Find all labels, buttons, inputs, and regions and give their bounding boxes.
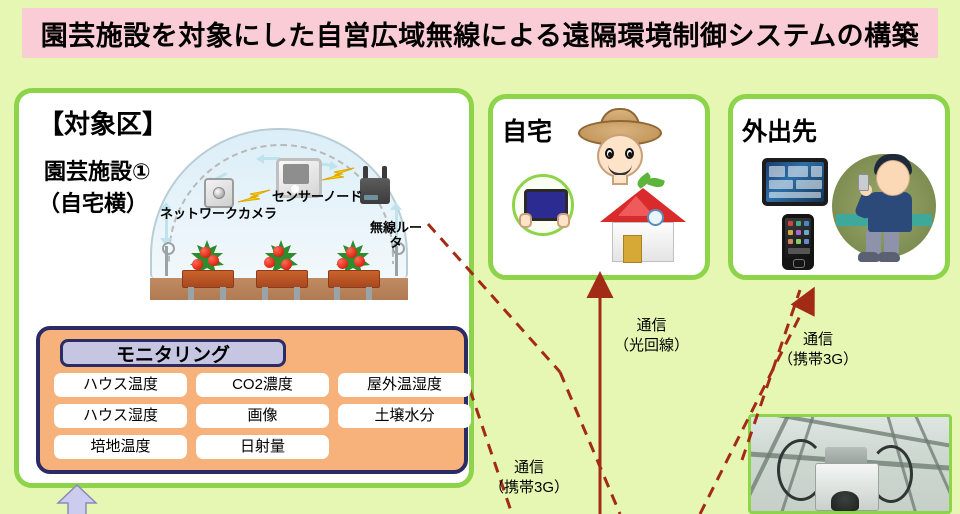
comm-label-line2: （光回線） — [614, 336, 689, 356]
outside-tablet-icon — [762, 158, 828, 206]
wireless-signal-bolt-icon — [320, 166, 356, 182]
label-wireless-router: 無線ルータ — [370, 221, 422, 251]
page-title: 園芸施設を対象にした自営広域無線による遠隔環境制御システムの構築 — [41, 14, 919, 53]
wireless-router-icon — [360, 168, 390, 204]
monitoring-row: ハウス湿度 画像 土壌水分 — [50, 404, 454, 428]
monitoring-item: ハウス湿度 — [54, 404, 187, 428]
label-target-area: 【対象区】 — [38, 104, 168, 141]
monitoring-item: ハウス温度 — [54, 373, 187, 397]
monitoring-panel: モニタリング ハウス温度 CO2濃度 屋外温湿度 ハウス湿度 画像 土壌水分 培… — [36, 326, 468, 474]
vent-post — [165, 246, 168, 276]
monitoring-title: モニタリング — [60, 339, 286, 367]
wireless-signal-bolt-icon — [236, 188, 272, 204]
tomato-planter — [322, 244, 384, 300]
comm-label-line1: 通信 — [489, 458, 569, 478]
comm-label-mobile-right: 通信 （携帯3G） — [778, 330, 858, 369]
comm-label-line1: 通信 — [778, 330, 858, 350]
house-icon — [600, 188, 686, 262]
comm-label-line2: （携帯3G） — [778, 350, 858, 370]
tomato-planter — [176, 244, 238, 300]
comm-label-line2: （携帯3G） — [489, 478, 569, 498]
greenhouse-camera-photo — [748, 414, 952, 514]
label-facility-line1: 園芸施設① — [44, 154, 151, 186]
label-outside: 外出先 — [742, 112, 817, 148]
label-facility-line2: （自宅横） — [38, 186, 148, 218]
monitoring-item: CO2濃度 — [196, 373, 329, 397]
comm-label-line1: 通信 — [614, 316, 689, 336]
page-title-band: 園芸施設を対象にした自営広域無線による遠隔環境制御システムの構築 — [22, 8, 938, 58]
monitoring-item: 画像 — [196, 404, 329, 428]
comm-label-mobile-left: 通信 （携帯3G） — [489, 458, 569, 497]
monitoring-item: 屋外温湿度 — [338, 373, 471, 397]
upward-flow-arrow-icon — [56, 484, 98, 514]
tomato-planter — [250, 244, 312, 300]
mobile-user-avatar — [832, 140, 936, 266]
monitoring-item: 培地温度 — [54, 435, 187, 459]
label-home: 自宅 — [502, 112, 552, 148]
outside-smartphone-icon — [782, 214, 814, 270]
monitoring-row: 培地温度 日射量 — [50, 435, 454, 459]
monitoring-row: ハウス温度 CO2濃度 屋外温湿度 — [50, 373, 454, 397]
comm-label-fiber: 通信 （光回線） — [614, 316, 689, 355]
monitoring-item: 土壌水分 — [338, 404, 471, 428]
monitoring-item-empty — [338, 435, 471, 459]
monitoring-item: 日射量 — [196, 435, 329, 459]
diagram-canvas: 園芸施設を対象にした自営広域無線による遠隔環境制御システムの構築 【対象区】 園… — [0, 0, 960, 514]
vent-knob-icon — [162, 242, 175, 255]
label-sensor-node: センサーノード — [272, 186, 362, 205]
home-tablet-icon — [512, 174, 574, 236]
label-network-camera: ネットワークカメラ — [160, 203, 277, 222]
